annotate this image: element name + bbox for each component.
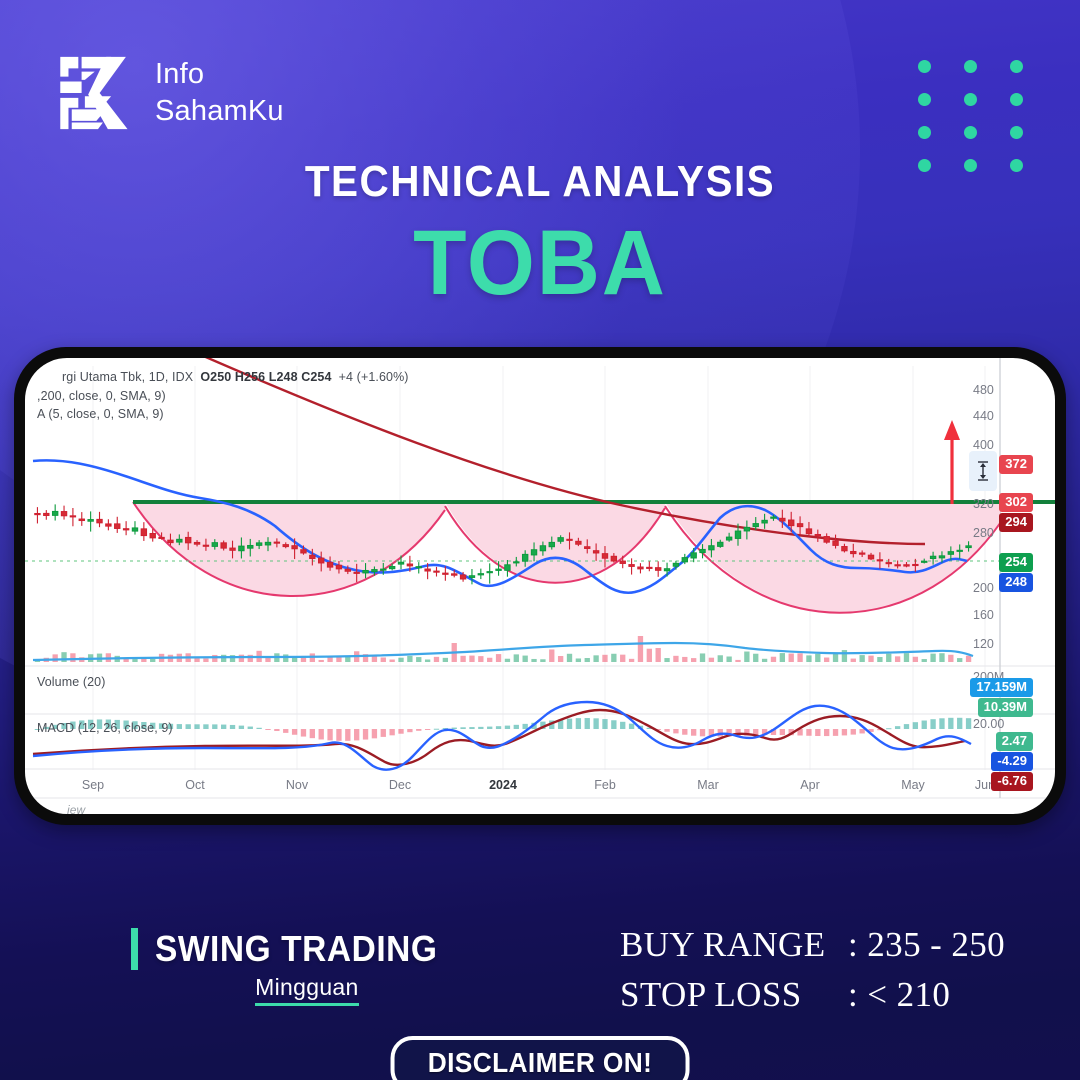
candle-body xyxy=(150,533,155,537)
volume-bar xyxy=(478,656,483,662)
volume-bar xyxy=(664,658,669,662)
candle-body xyxy=(70,516,75,517)
volume-bar xyxy=(859,655,864,662)
stop-loss-row: STOP LOSS : < 210 xyxy=(620,970,1005,1020)
candle-body xyxy=(310,555,315,558)
macd-bar xyxy=(452,728,457,729)
macd-bar xyxy=(239,726,244,729)
macd-bar xyxy=(523,724,528,729)
macd-bar xyxy=(691,729,696,736)
candle-body xyxy=(655,568,660,571)
macd-bar xyxy=(354,729,359,740)
macd-bar xyxy=(434,729,439,730)
volume-bar xyxy=(629,659,634,662)
dot-icon xyxy=(964,126,977,139)
candle-body xyxy=(638,567,643,569)
candle-body xyxy=(97,519,102,523)
volume-bar xyxy=(682,657,687,662)
candle-body xyxy=(416,567,421,568)
volume-bar xyxy=(806,655,811,662)
price-tick: 160 xyxy=(973,608,1025,622)
macd-bar xyxy=(363,729,368,740)
volume-bar xyxy=(718,655,723,662)
dot-icon xyxy=(918,60,931,73)
trade-info-block: BUY RANGE : 235 - 250 STOP LOSS : < 210 xyxy=(620,920,1005,1019)
chart-frame: rgi Utama Tbk, 1D, IDX O250 H256 L248 C2… xyxy=(14,347,1066,825)
candle-body xyxy=(824,536,829,542)
candle-body xyxy=(372,570,377,572)
candle-body xyxy=(700,549,705,552)
candle-body xyxy=(336,565,341,569)
macd-bar xyxy=(700,729,705,736)
volume-bar xyxy=(425,659,430,662)
candle-body xyxy=(673,563,678,566)
candle-body xyxy=(381,569,386,570)
candle-body xyxy=(248,545,253,548)
candle-body xyxy=(788,520,793,526)
candle-body xyxy=(726,537,731,540)
candle-body xyxy=(212,543,217,547)
measure-tool-button[interactable] xyxy=(969,451,997,491)
volume-bar xyxy=(496,654,501,662)
cup-and-handle-pattern xyxy=(133,492,1010,612)
candle-body xyxy=(957,550,962,551)
candle-body xyxy=(301,550,306,553)
macd-bar xyxy=(203,724,208,729)
macd-bar xyxy=(248,727,253,729)
candle-body xyxy=(106,524,111,526)
candle-body xyxy=(549,542,554,546)
candle-body xyxy=(283,545,288,547)
candle-body xyxy=(913,564,918,565)
volume-bar xyxy=(647,649,652,662)
candle-body xyxy=(806,529,811,534)
swing-trading-subtitle: Mingguan xyxy=(255,974,358,1006)
volume-bar xyxy=(434,657,439,662)
price-tag-resistance: 302 xyxy=(999,493,1033,512)
candle-body xyxy=(407,564,412,566)
volume-bar xyxy=(842,650,847,662)
volume-bar xyxy=(593,655,598,662)
volume-bar xyxy=(523,656,528,662)
volume-bar xyxy=(691,658,696,662)
macd-bar xyxy=(664,729,669,732)
volume-bar xyxy=(549,649,554,662)
macd-bar xyxy=(372,729,377,738)
price-chart-plot xyxy=(25,358,1055,814)
macd-bar xyxy=(514,725,519,729)
candle-body xyxy=(682,558,687,562)
macd-bar xyxy=(602,719,607,729)
candle-body xyxy=(664,569,669,571)
candle-body xyxy=(389,566,394,568)
volume-bar xyxy=(966,656,971,662)
ticker-symbol: TOBA xyxy=(27,217,1053,309)
macd-tag-hist: 2.47 xyxy=(996,732,1033,751)
dot-icon xyxy=(964,60,977,73)
candle-body xyxy=(620,561,625,564)
volume-bar xyxy=(150,659,155,662)
candle-body xyxy=(123,529,128,530)
candle-body xyxy=(274,542,279,543)
volume-bar xyxy=(602,655,607,662)
macd-bar xyxy=(780,729,785,735)
volume-bar xyxy=(283,654,288,662)
volume-bar xyxy=(673,656,678,662)
candle-body xyxy=(691,553,696,558)
price-tag-target: 372 xyxy=(999,455,1033,474)
macd-tag-macd: -4.29 xyxy=(991,752,1033,771)
page-title: TECHNICAL ANALYSIS xyxy=(43,157,1037,207)
candle-body xyxy=(168,540,173,543)
candle-body xyxy=(318,558,323,563)
candle-body xyxy=(230,548,235,550)
candle-body xyxy=(88,520,93,522)
candle-body xyxy=(531,550,536,555)
volume-bar xyxy=(735,660,740,662)
volume-bar xyxy=(443,658,448,662)
volume-bar xyxy=(744,652,749,662)
candle-body xyxy=(79,519,84,521)
macd-bar xyxy=(416,729,421,731)
volume-bar xyxy=(203,659,208,662)
volume-bar xyxy=(540,659,545,662)
candle-body xyxy=(114,524,119,529)
macd-bar xyxy=(806,729,811,736)
macd-bar xyxy=(469,727,474,729)
price-tick: 480 xyxy=(973,383,1025,397)
volume-bar xyxy=(221,655,226,662)
volume-bar xyxy=(868,656,873,662)
candle-body xyxy=(576,541,581,544)
macd-bar xyxy=(886,728,891,729)
candle-body xyxy=(239,546,244,551)
candle-body xyxy=(132,528,137,531)
candle-body xyxy=(930,556,935,558)
candle-body xyxy=(602,554,607,559)
candle-body xyxy=(939,556,944,558)
macd-bar xyxy=(948,718,953,729)
candle-body xyxy=(487,572,492,573)
candle-body xyxy=(851,551,856,553)
candle-body xyxy=(505,565,510,571)
macd-bar xyxy=(567,719,572,729)
macd-bar xyxy=(673,729,678,733)
candle-body xyxy=(833,541,838,545)
volume-bar xyxy=(194,658,199,662)
macd-bar xyxy=(177,724,182,729)
volume-bar xyxy=(576,658,581,662)
price-tick: 400 xyxy=(973,438,1025,452)
volume-bar xyxy=(248,655,253,662)
macd-bar xyxy=(478,727,483,729)
volume-bar xyxy=(753,654,758,662)
candle-body xyxy=(451,574,456,575)
volume-bar xyxy=(514,654,519,662)
volume-bar xyxy=(620,655,625,662)
candle-body xyxy=(921,561,926,562)
volume-bar xyxy=(886,654,891,662)
stop-loss-label: STOP LOSS xyxy=(620,970,848,1020)
candle-body xyxy=(771,517,776,518)
macd-bar xyxy=(895,726,900,729)
candle-body xyxy=(593,551,598,553)
candle-body xyxy=(815,534,820,535)
volume-bar xyxy=(372,656,377,662)
macd-bar xyxy=(815,729,820,736)
candle-body xyxy=(460,575,465,579)
volume-bar xyxy=(460,656,465,662)
macd-bar xyxy=(381,729,386,737)
brand-logo[interactable]: Info SahamKu xyxy=(57,52,284,134)
candle-body xyxy=(354,572,359,573)
buy-range-row: BUY RANGE : 235 - 250 xyxy=(620,920,1005,970)
volume-bar xyxy=(877,657,882,662)
macd-bar xyxy=(922,721,927,729)
candle-body xyxy=(363,570,368,573)
price-tick: 120 xyxy=(973,637,1025,651)
macd-bar xyxy=(939,718,944,729)
chart-legend-ticker: rgi Utama Tbk, 1D, IDX O250 H256 L248 C2… xyxy=(62,370,409,384)
volume-bar xyxy=(948,655,953,662)
x-axis-label: Dec xyxy=(389,778,411,792)
candle-body xyxy=(718,542,723,546)
x-axis-label: Nov xyxy=(286,778,308,792)
candle-body xyxy=(797,524,802,527)
candle-body xyxy=(753,524,758,527)
volume-tick: 20.00 xyxy=(973,717,1025,731)
volume-bar xyxy=(53,654,58,662)
chart-legend-ma200: ,200, close, 0, SMA, 9) xyxy=(37,389,166,403)
candle-body xyxy=(567,539,572,540)
x-axis-label: Apr xyxy=(800,778,819,792)
macd-bar xyxy=(851,729,856,735)
macd-bar xyxy=(389,729,394,735)
macd-bar xyxy=(274,729,279,731)
buy-range-value: : 235 - 250 xyxy=(848,920,1005,970)
volume-bar xyxy=(851,659,856,662)
candle-body xyxy=(540,546,545,551)
x-axis-label: Sep xyxy=(82,778,104,792)
volume-bar xyxy=(381,657,386,662)
candle-body xyxy=(434,571,439,572)
volume-bar xyxy=(319,660,324,662)
macd-bar xyxy=(460,727,465,729)
volume-bar xyxy=(505,659,510,662)
macd-bar xyxy=(576,718,581,729)
macd-bar xyxy=(904,724,909,729)
candle-body xyxy=(496,569,501,570)
x-axis-label-year: 2024 xyxy=(489,778,517,792)
macd-bar xyxy=(682,729,687,735)
dot-icon xyxy=(918,126,931,139)
macd-bar xyxy=(212,724,217,729)
dot-icon xyxy=(1010,60,1023,73)
swing-trading-block: SWING TRADING Mingguan xyxy=(131,928,459,1006)
volume-bar xyxy=(487,658,492,662)
volume-bar xyxy=(469,656,474,662)
volume-bar xyxy=(638,636,643,662)
candle-body xyxy=(35,513,40,514)
volume-bar xyxy=(416,657,421,662)
candle-body xyxy=(159,537,164,538)
candle-body xyxy=(611,556,616,561)
candle-body xyxy=(398,562,403,564)
price-tag-ma5: 248 xyxy=(999,573,1033,592)
volume-bar xyxy=(389,660,394,662)
candle-body xyxy=(584,547,589,549)
volume-bar xyxy=(567,654,572,662)
candle-body xyxy=(735,531,740,538)
accent-bar xyxy=(131,928,138,970)
volume-bar xyxy=(407,656,412,662)
candle-body xyxy=(877,560,882,561)
brand-name: Info SahamKu xyxy=(155,56,284,130)
macd-bar xyxy=(966,718,971,729)
candle-body xyxy=(469,576,474,578)
macd-bar xyxy=(398,729,403,734)
macd-bar xyxy=(505,726,510,729)
up-arrow-annotation xyxy=(944,420,960,504)
macd-bar xyxy=(629,724,634,729)
dot-icon xyxy=(1010,93,1023,106)
macd-bar xyxy=(913,722,918,729)
macd-bar xyxy=(194,724,199,729)
volume-bar xyxy=(239,655,244,662)
macd-bar xyxy=(842,729,847,735)
disclaimer-badge[interactable]: DISCLAIMER ON! xyxy=(391,1036,690,1080)
candle-body xyxy=(966,546,971,548)
candle-body xyxy=(709,546,714,550)
candle-body xyxy=(558,538,563,542)
volume-bar xyxy=(398,658,403,662)
macd-bar xyxy=(230,725,235,729)
candle-body xyxy=(52,511,57,515)
volume-bar xyxy=(797,653,802,662)
volume-bar xyxy=(930,654,935,662)
macd-bar xyxy=(496,726,501,729)
chart-viewport[interactable]: rgi Utama Tbk, 1D, IDX O250 H256 L248 C2… xyxy=(25,358,1055,814)
volume-bar xyxy=(789,654,794,662)
volume-bar xyxy=(922,659,927,662)
macd-bar xyxy=(585,718,590,729)
dot-icon xyxy=(964,93,977,106)
macd-bar xyxy=(620,722,625,729)
volume-bar xyxy=(762,659,767,662)
candle-body xyxy=(141,529,146,536)
macd-bar xyxy=(957,718,962,729)
macd-bar xyxy=(407,729,412,732)
candle-body xyxy=(327,562,332,567)
chart-legend-macd: MACD (12, 26, close, 9) xyxy=(37,721,173,735)
x-axis-label: Oct xyxy=(185,778,204,792)
candle-body xyxy=(780,518,785,521)
macd-tag-signal: -6.76 xyxy=(991,772,1033,791)
candle-body xyxy=(842,546,847,550)
volume-bar xyxy=(939,653,944,662)
volume-bar xyxy=(957,658,962,662)
buy-range-label: BUY RANGE xyxy=(620,920,848,970)
volume-bar xyxy=(656,648,661,662)
volume-bar xyxy=(709,658,714,662)
macd-bar xyxy=(265,729,270,730)
dot-icon xyxy=(918,93,931,106)
swing-trading-title: SWING TRADING xyxy=(155,928,438,970)
volume-bar xyxy=(913,657,918,662)
volume-bar xyxy=(904,653,909,662)
volume-bar xyxy=(815,654,820,662)
macd-bar xyxy=(221,725,226,729)
isk-monogram-logo-icon xyxy=(57,52,139,134)
candle-body xyxy=(44,513,49,515)
macd-bar xyxy=(425,729,430,730)
macd-bar xyxy=(345,729,350,741)
price-tag-close: 254 xyxy=(999,553,1033,572)
candle-body xyxy=(221,543,226,548)
volume-tag-last: 17.159M xyxy=(970,678,1033,697)
candle-body xyxy=(904,565,909,566)
price-tag-ma200: 294 xyxy=(999,513,1033,532)
x-axis-label: Mar xyxy=(697,778,719,792)
candle-body xyxy=(256,543,261,546)
macd-bar xyxy=(833,729,838,736)
candle-body xyxy=(425,569,430,571)
macd-signal-line xyxy=(33,710,965,765)
macd-bar xyxy=(310,729,315,738)
macd-bar xyxy=(824,729,829,736)
candle-body xyxy=(895,565,900,566)
volume-bar xyxy=(212,655,217,662)
chart-legend-ma5: A (5, close, 0, SMA, 9) xyxy=(37,407,164,421)
volume-bar xyxy=(726,657,731,662)
volume-bar xyxy=(70,653,75,662)
candle-body xyxy=(647,567,652,568)
candle-body xyxy=(345,569,350,571)
macd-bar xyxy=(186,724,191,729)
volume-bar xyxy=(780,653,785,662)
legend-ticker-name: rgi Utama Tbk, 1D, IDX xyxy=(62,370,193,384)
volume-bar xyxy=(771,657,776,662)
volume-bar xyxy=(585,658,590,662)
volume-bar xyxy=(611,654,616,662)
volume-bar xyxy=(531,659,536,662)
legend-change: +4 (+1.60%) xyxy=(339,370,409,384)
candle-body xyxy=(292,546,297,549)
candle-body xyxy=(629,565,634,567)
macd-bar xyxy=(336,729,341,741)
candle-body xyxy=(886,563,891,564)
macd-bar xyxy=(930,719,935,729)
volume-bar xyxy=(327,657,332,662)
macd-line xyxy=(33,702,971,770)
macd-bar xyxy=(327,729,332,740)
candle-body xyxy=(478,574,483,575)
stop-loss-value: : < 210 xyxy=(848,970,950,1020)
macd-bar xyxy=(319,729,324,739)
candle-body xyxy=(194,542,199,544)
candle-body xyxy=(948,552,953,555)
poster-canvas: Info SahamKu TECHNICAL ANALYSIS TOBA xyxy=(0,0,1080,1080)
volume-tag-ma: 10.39M xyxy=(978,698,1033,717)
macd-bar xyxy=(487,727,492,729)
macd-bar xyxy=(859,729,864,733)
macd-bar xyxy=(593,718,598,729)
chart-watermark: iew xyxy=(67,803,85,814)
macd-bar xyxy=(292,729,297,735)
price-tick: 440 xyxy=(973,409,1025,423)
volume-bar xyxy=(132,659,137,662)
macd-bar xyxy=(611,720,616,729)
